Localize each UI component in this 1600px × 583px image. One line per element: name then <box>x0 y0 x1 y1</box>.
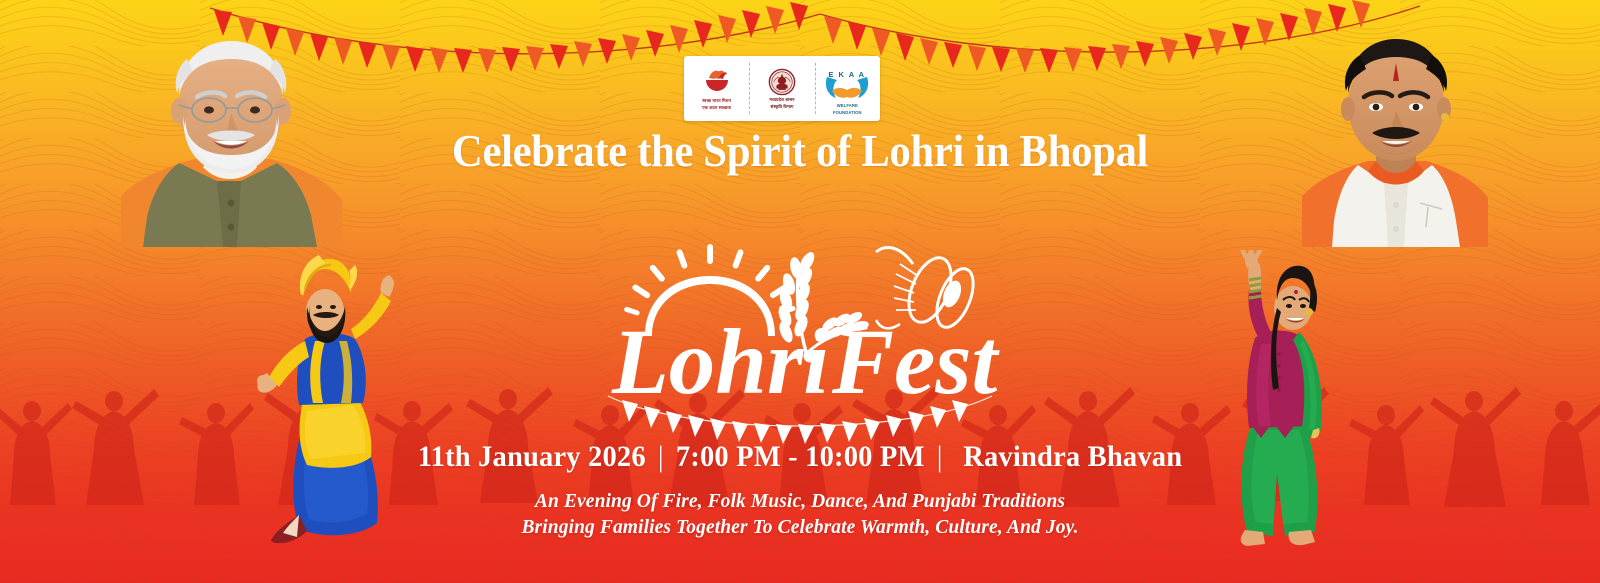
swachh-bharat-caption-2: एक कदम स्वच्छता <box>702 105 731 110</box>
logo-word-fest: Fest <box>831 311 1001 414</box>
sponsor-logo-strip: स्वच्छ भारत मिशन एक कदम स्वच्छता म <box>684 56 880 121</box>
swachh-bharat-logo: स्वच्छ भारत मिशन एक कदम स्वच्छता <box>684 56 749 121</box>
mp-caption-1: मध्यप्रदेश शासन <box>769 97 794 102</box>
details-separator-2: | <box>932 440 947 473</box>
tagline-line-1: An Evening Of Fire, Folk Music, Dance, A… <box>0 489 1600 515</box>
bhangra-dancer-male <box>253 253 403 543</box>
event-date: 11th January 2026 <box>418 440 646 473</box>
tagline-line-2: Bringing Families Together To Celebrate … <box>0 515 1600 541</box>
svg-text:E K A A: E K A A <box>829 70 866 79</box>
ekaa-welfare-foundation-logo: E K A A WELFARE FOUNDATION <box>815 56 880 121</box>
ekaa-hands-mark: E K A A <box>821 62 873 102</box>
mp-caption-2: संस्कृति विभाग <box>771 104 794 109</box>
ekaa-caption-1: WELFARE <box>837 103 858 108</box>
event-tagline: An Evening Of Fire, Folk Music, Dance, A… <box>0 489 1600 542</box>
event-venue: Ravindra Bhavan <box>955 440 1183 473</box>
page-title: Celebrate the Spirit of Lohri in Bhopal <box>56 128 1544 174</box>
event-time: 7:00 PM - 10:00 PM <box>676 440 925 473</box>
details-separator-1: | <box>653 440 668 473</box>
logo-word-lohri: Lohri <box>611 311 829 414</box>
giddha-dancer-female <box>1215 250 1345 550</box>
madhya-pradesh-government-emblem: मध्यप्रदेश शासन संस्कृति विभाग <box>749 56 814 121</box>
lohri-fest-logo: Lohri Fest <box>600 228 1000 428</box>
ekaa-caption-2: FOUNDATION <box>833 110 862 115</box>
bunting-flags-right <box>824 0 1370 72</box>
lohri-fest-banner: स्वच्छ भारत मिशन एक कदम स्वच्छता म <box>0 0 1600 583</box>
mp-state-emblem-mark <box>768 68 796 96</box>
swachh-bharat-mark <box>702 67 732 97</box>
swachh-bharat-caption-1: स्वच्छ भारत मिशन <box>702 98 731 103</box>
